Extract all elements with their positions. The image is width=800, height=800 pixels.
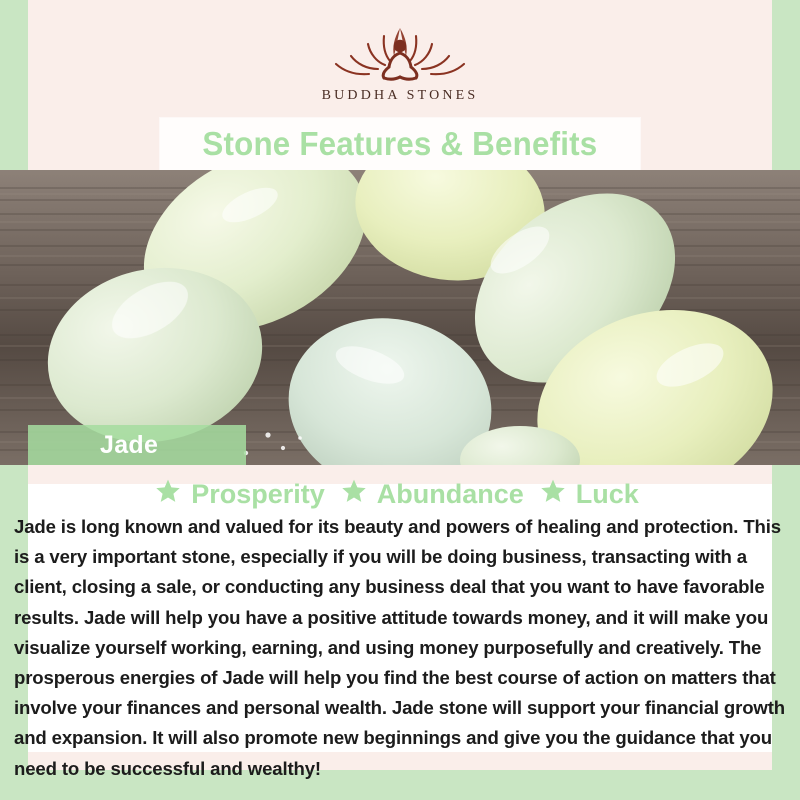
keyword-abundance: Abundance: [377, 479, 524, 510]
stone-name: Jade: [100, 431, 158, 460]
star-icon: [341, 478, 367, 511]
section-title-banner: Stone Features & Benefits: [160, 118, 640, 170]
page-title: Stone Features & Benefits: [203, 125, 598, 163]
lotus-meditation-logo-icon: [326, 22, 474, 84]
stone-info-poster: BUDDHA STONES Stone Features & Benefits: [0, 0, 800, 800]
brand-name: BUDDHA STONES: [322, 88, 479, 104]
stone-photo: [0, 170, 800, 465]
star-icon: [155, 478, 181, 511]
star-icon: [540, 478, 566, 511]
description-text: Jade is long known and valued for its be…: [14, 512, 786, 784]
keyword-luck: Luck: [576, 479, 639, 510]
keyword-list: Prosperity Abundance Luck: [0, 478, 800, 511]
brand-logo: BUDDHA STONES: [0, 22, 800, 104]
keyword-prosperity: Prosperity: [191, 479, 325, 510]
stone-name-tag: Jade: [28, 425, 246, 465]
